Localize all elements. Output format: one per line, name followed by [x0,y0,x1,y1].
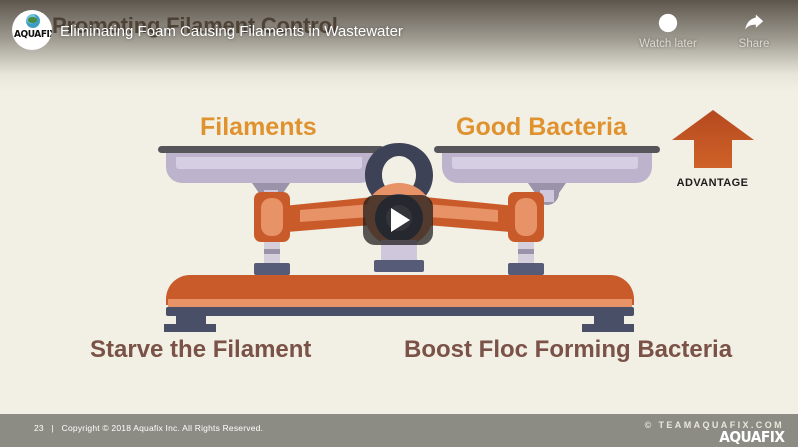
globe-icon [26,14,40,28]
left-arm-block [254,192,290,275]
clock-icon [634,10,702,36]
label-good-bacteria: Good Bacteria [456,113,627,142]
watch-later-label: Watch later [634,38,702,50]
label-starve-the-filament: Starve the Filament [90,336,311,364]
play-triangle-icon [391,208,410,232]
label-boost-floc-forming-bacteria: Boost Floc Forming Bacteria [404,336,732,364]
youtube-video-player[interactable]: Promoting Filament Control [0,0,798,447]
footer-aquafix-logo: AQUAFIX [656,431,784,444]
right-arm-block [508,192,544,275]
watch-later-button[interactable]: Watch later [634,10,702,50]
footer-copyright: 23 | Copyright © 2018 Aquafix Inc. All R… [34,423,263,433]
youtube-actions: Watch later Share [634,10,788,50]
up-arrow-icon [672,110,754,168]
footer-branding: © TEAMAQUAFIX.COM AQUAFIX [645,420,784,444]
right-pan [434,146,660,205]
footer-page-number: 23 [34,423,44,433]
footer-copyright-text: Copyright © 2018 Aquafix Inc. All Rights… [62,423,263,433]
share-label: Share [720,38,788,50]
play-button[interactable] [363,195,433,245]
advantage-label: ADVANTAGE [665,177,760,189]
video-title[interactable]: Eliminating Foam Causing Filaments in Wa… [60,23,403,40]
share-arrow-icon [720,10,788,36]
share-button[interactable]: Share [720,10,788,50]
slide-footer: 23 | Copyright © 2018 Aquafix Inc. All R… [0,414,798,447]
scale-base [164,275,634,332]
label-filaments: Filaments [200,113,317,142]
advantage-indicator: ADVANTAGE [665,110,760,189]
footer-separator: | [52,423,54,433]
channel-avatar[interactable]: AQUAFIX [12,10,52,50]
avatar-brand-text: AQUAFIX [14,29,50,40]
